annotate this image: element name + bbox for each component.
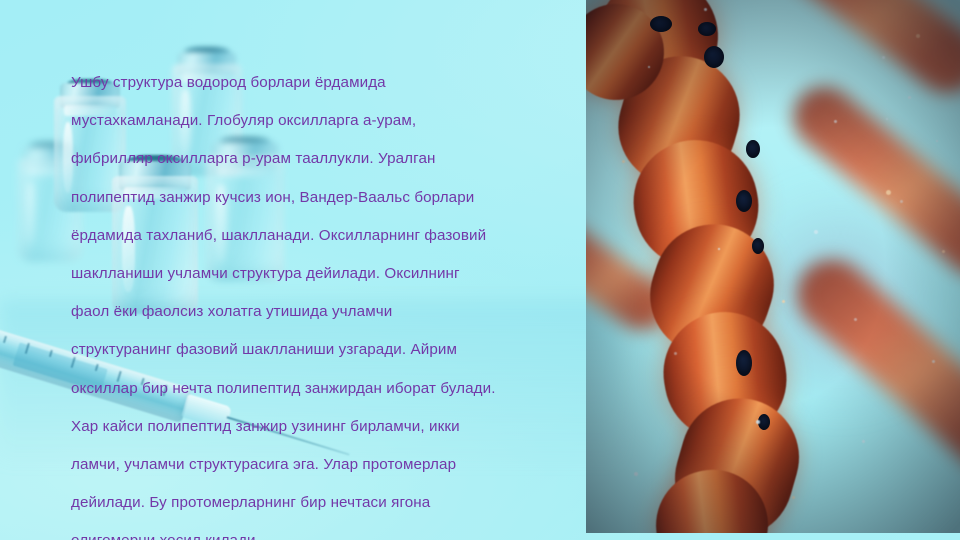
body-text-line: олигомерни хосил килади. bbox=[71, 522, 601, 540]
body-text-line: фибрилляр оксилларга p-урам тааллукли. У… bbox=[71, 140, 601, 178]
image-vignette bbox=[586, 0, 960, 533]
vial-gloss bbox=[26, 181, 36, 245]
body-text-line: структуранинг фазовий шаклланиши узгарад… bbox=[71, 331, 601, 369]
body-text-line: полипептид занжир кучсиз ион, Вандер-Ваа… bbox=[71, 179, 601, 217]
body-text-line: шаклланиши учламчи структура дейилади. О… bbox=[71, 255, 601, 293]
body-text-line: ламчи, учламчи структурасига эга. Улар п… bbox=[71, 446, 601, 484]
body-text-line: Хар кайси полипептид занжир узининг бирл… bbox=[71, 408, 601, 446]
body-text-line: дейилади. Бу протомерларнинг бир нечтаси… bbox=[71, 484, 601, 522]
body-text-line: ёрдамида тахланиб, шаклланади. Оксилларн… bbox=[71, 217, 601, 255]
protein-double-helix-image bbox=[586, 0, 960, 533]
body-text-line: фаол ёки фаолсиз холатга утишида учламчи bbox=[71, 293, 601, 331]
body-text-block: Ушбу структура водород борлари ёрдамидам… bbox=[71, 64, 601, 540]
body-text-line: мустахкамланади. Глобуляр оксилларга a-у… bbox=[71, 102, 601, 140]
body-text-line: оксиллар бир нечта полипептид занжирдан … bbox=[71, 370, 601, 408]
slide-canvas: Ушбу структура водород борлари ёрдамидам… bbox=[0, 0, 960, 540]
body-text-line: Ушбу структура водород борлари ёрдамида bbox=[71, 64, 601, 102]
